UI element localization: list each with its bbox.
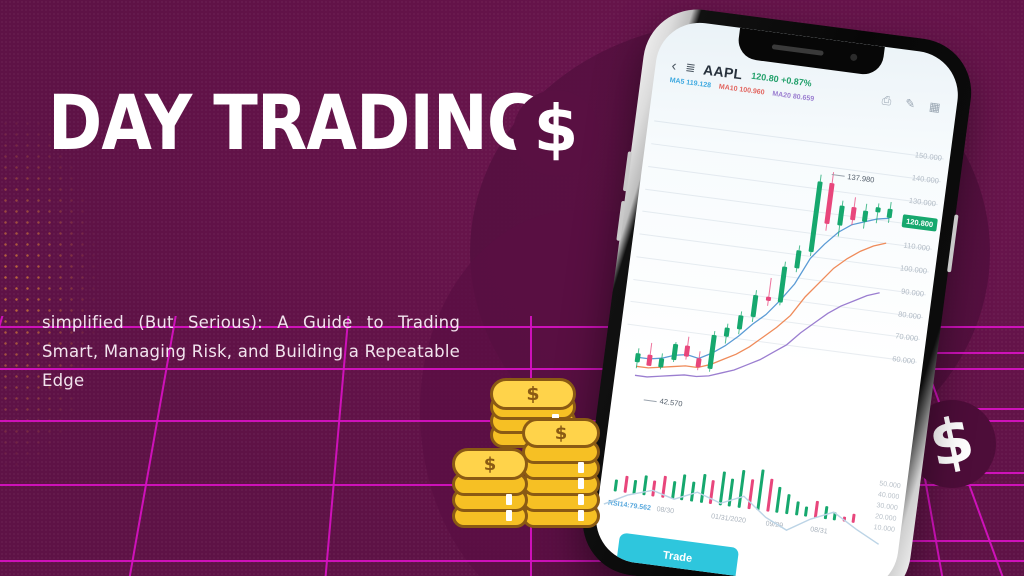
coin-dollar-glyph: $ (493, 381, 573, 407)
coin-dollar-glyph: $ (455, 451, 525, 477)
dollar-glyph: $ (534, 93, 579, 167)
front-camera-icon (850, 53, 858, 61)
screenshot-icon[interactable]: ⎙ (881, 93, 892, 109)
back-arrow-icon[interactable]: ‹ (671, 58, 678, 74)
watchlist-icon[interactable]: ≣ (685, 61, 696, 74)
ticker-price-change: 120.80 +0.87% (751, 71, 813, 89)
volume-axis-label: 50.000 (879, 480, 901, 490)
coin-stacks-illustration: $ $ $ (450, 378, 625, 543)
ticker-symbol: AAPL (702, 61, 743, 82)
thumbnail-canvas: DAY TRADING simplified (But Serious): A … (0, 0, 1024, 576)
ma5-legend: MA5 119.128 (669, 77, 711, 89)
dollar-sign-icon-top: $ (513, 90, 599, 176)
speaker-grille-icon (772, 44, 824, 56)
coin-dollar-glyph: $ (525, 421, 597, 445)
ma-line-ma20 (635, 263, 880, 406)
candle-body (875, 207, 881, 212)
ma20-legend: MA20 80.659 (772, 91, 815, 103)
ma-line-ma10 (636, 213, 886, 397)
grid-icon[interactable]: ▦ (928, 99, 941, 115)
dollar-glyph: $ (923, 401, 980, 481)
ma10-legend: MA10 100.960 (718, 84, 764, 97)
candle-body (765, 296, 771, 301)
page-subtitle: simplified (But Serious): A Guide to Tra… (42, 308, 460, 395)
candlestick-chart[interactable]: 150.000140.000130.000120.000110.000100.0… (607, 109, 951, 476)
draw-icon[interactable]: ✎ (904, 96, 916, 112)
page-title: DAY TRADING (48, 83, 540, 163)
